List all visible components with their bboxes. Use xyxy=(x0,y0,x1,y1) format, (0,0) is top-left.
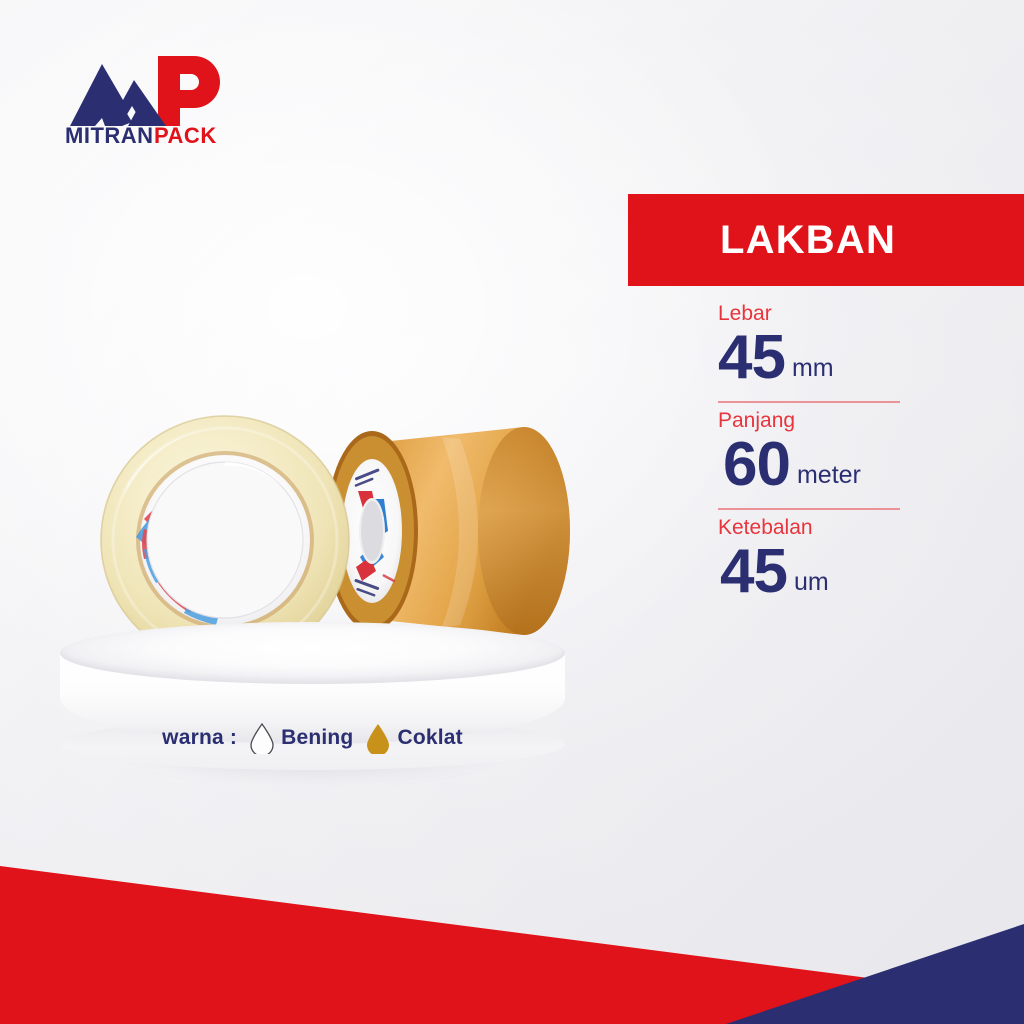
spec-item-lebar: Lebar 45 mm xyxy=(718,302,968,403)
brand-logo[interactable]: MITRAN PACK xyxy=(62,52,242,146)
legend-option-bening[interactable]: Bening xyxy=(237,722,353,754)
water-drop-brown-icon xyxy=(365,722,391,754)
product-title-banner: LAKBAN xyxy=(628,194,1024,286)
spec-label: Ketebalan xyxy=(718,516,968,539)
colors-legend: warna : Bening Coklat xyxy=(60,710,565,766)
mp-monogram-icon: MITRAN PACK xyxy=(62,52,242,146)
spec-divider xyxy=(718,401,900,403)
spec-item-ketebalan: Ketebalan 45 um xyxy=(718,516,968,603)
spec-value: 45 xyxy=(718,327,785,389)
spec-label: Lebar xyxy=(718,302,968,325)
podium-top-surface xyxy=(60,622,565,684)
spec-unit: meter xyxy=(797,463,861,488)
spec-unit: um xyxy=(794,570,829,595)
page-title: LAKBAN xyxy=(720,220,896,260)
podium-icon: warna : Bening Coklat xyxy=(60,622,565,756)
spec-value: 60 xyxy=(723,434,790,496)
water-drop-clear-icon xyxy=(249,722,275,754)
legend-option-label: Bening xyxy=(281,726,353,750)
bottom-decoration xyxy=(0,840,1024,1024)
logo-word-mitran: MITRAN xyxy=(65,123,154,146)
spec-value: 45 xyxy=(720,541,787,603)
legend-option-label: Coklat xyxy=(397,726,462,750)
logo-word-pack: PACK xyxy=(154,123,217,146)
spec-item-panjang: Panjang 60 meter xyxy=(718,409,968,510)
product-poster: MITRAN PACK LAKBAN Lebar 45 mm Panjang 6… xyxy=(0,0,1024,1024)
legend-prefix: warna : xyxy=(162,726,237,750)
legend-option-coklat[interactable]: Coklat xyxy=(353,722,462,754)
spec-label: Panjang xyxy=(718,409,968,432)
spec-list: Lebar 45 mm Panjang 60 meter Ketebalan 4… xyxy=(718,302,968,609)
spec-divider xyxy=(718,508,900,510)
spec-unit: mm xyxy=(792,356,834,381)
